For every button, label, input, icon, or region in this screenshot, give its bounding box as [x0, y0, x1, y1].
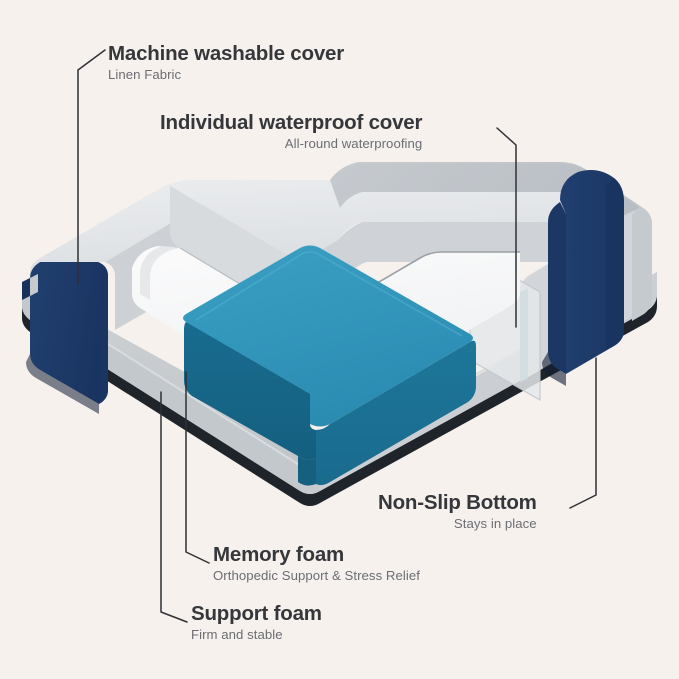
callout-subtitle-machine-washable: Linen Fabric: [108, 67, 344, 83]
callout-title-machine-washable: Machine washable cover: [108, 43, 344, 66]
leader-non-slip-bottom: [570, 358, 596, 508]
callout-memory-foam: Memory foam Orthopedic Support & Stress …: [213, 544, 420, 584]
callout-subtitle-memory-foam: Orthopedic Support & Stress Relief: [213, 568, 420, 584]
callout-title-memory-foam: Memory foam: [213, 544, 420, 567]
callout-individual-waterproof-cover: Individual waterproof cover All-round wa…: [160, 112, 422, 152]
callout-subtitle-non-slip: Stays in place: [378, 516, 537, 532]
callout-subtitle-waterproof: All-round waterproofing: [160, 136, 422, 152]
callout-non-slip-bottom: Non-Slip Bottom Stays in place: [378, 492, 537, 532]
callout-title-waterproof: Individual waterproof cover: [160, 112, 422, 135]
callout-support-foam: Support foam Firm and stable: [191, 603, 322, 643]
callout-subtitle-support-foam: Firm and stable: [191, 627, 322, 643]
callout-title-non-slip: Non-Slip Bottom: [378, 492, 537, 515]
callout-title-support-foam: Support foam: [191, 603, 322, 626]
callout-machine-washable-cover: Machine washable cover Linen Fabric: [108, 43, 344, 83]
infographic-canvas: Machine washable cover Linen Fabric Indi…: [0, 0, 679, 679]
